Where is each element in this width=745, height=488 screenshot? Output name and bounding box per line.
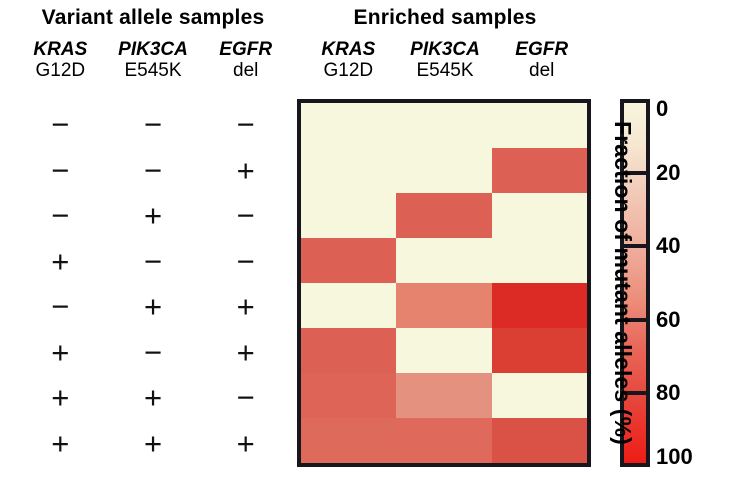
variant-matrix-cell: −: [107, 109, 200, 140]
colorbar-tick-label: 20: [656, 162, 680, 184]
variant-matrix-cell: +: [199, 291, 292, 322]
column-header-pik3ca: PIK3CA E545K: [107, 40, 200, 81]
variant-matrix-cell: −: [199, 246, 292, 277]
heatmap-cell: [301, 193, 396, 238]
heatmap-cell: [492, 373, 587, 418]
left-panel-title: Variant allele samples: [14, 6, 292, 30]
colorbar-axis-title: Fraction of mutant alleles (%): [606, 99, 640, 467]
heatmap-cell: [396, 283, 491, 328]
heatmap-cell: [396, 103, 491, 148]
heatmap-row: [301, 373, 587, 418]
heatmap-cell: [301, 238, 396, 283]
heatmap-cell: [492, 103, 587, 148]
variant-matrix-cell: +: [107, 428, 200, 459]
variant-allele-matrix: −−−−−+−+−+−−−+++−+++−+++: [14, 102, 292, 466]
heatmap-row: [301, 238, 587, 283]
heatmap-gene-name-kras: KRAS: [300, 40, 397, 61]
heatmap-row: [301, 283, 587, 328]
heatmap-cell: [396, 418, 491, 463]
column-header-egfr: EGFR del: [199, 40, 292, 81]
heatmap-cell: [301, 418, 396, 463]
variant-matrix-cell: +: [14, 337, 107, 368]
heatmap-gene-variant-egfr: del: [493, 61, 590, 82]
variant-matrix-cell: +: [14, 428, 107, 459]
gene-name-egfr: EGFR: [199, 40, 292, 61]
variant-matrix-row: −−+: [14, 148, 292, 194]
gene-name-pik3ca: PIK3CA: [107, 40, 200, 61]
variant-matrix-cell: −: [14, 155, 107, 186]
heatmap-column-header-egfr: EGFR del: [493, 40, 590, 81]
variant-matrix-row: −++: [14, 284, 292, 330]
heatmap-cell: [301, 148, 396, 193]
heatmap-cell: [492, 148, 587, 193]
heatmap-cell: [396, 373, 491, 418]
heatmap-gene-variant-pik3ca: E545K: [397, 61, 494, 82]
heatmap-gene-name-pik3ca: PIK3CA: [397, 40, 494, 61]
variant-matrix-row: −+−: [14, 193, 292, 239]
variant-matrix-row: ++−: [14, 375, 292, 421]
heatmap-row: [301, 103, 587, 148]
heatmap-gene-variant-kras: G12D: [300, 61, 397, 82]
enriched-samples-heatmap: [297, 99, 591, 467]
variant-matrix-row: +−+: [14, 330, 292, 376]
variant-allele-column-headers: KRAS G12D PIK3CA E545K EGFR del: [14, 40, 292, 81]
heatmap-cell: [492, 238, 587, 283]
variant-matrix-cell: +: [199, 337, 292, 368]
variant-matrix-cell: −: [199, 109, 292, 140]
variant-matrix-cell: −: [107, 246, 200, 277]
heatmap-row: [301, 328, 587, 373]
heatmap-gene-name-egfr: EGFR: [493, 40, 590, 61]
heatmap-cell: [301, 328, 396, 373]
variant-matrix-cell: +: [107, 291, 200, 322]
heatmap-cell: [396, 148, 491, 193]
variant-matrix-row: +−−: [14, 239, 292, 285]
column-header-kras: KRAS G12D: [14, 40, 107, 81]
gene-name-kras: KRAS: [14, 40, 107, 61]
heatmap-column-header-kras: KRAS G12D: [300, 40, 397, 81]
variant-matrix-row: +++: [14, 421, 292, 467]
heatmap-cell: [492, 283, 587, 328]
variant-matrix-cell: +: [14, 382, 107, 413]
variant-matrix-cell: +: [199, 155, 292, 186]
enriched-samples-column-headers: KRAS G12D PIK3CA E545K EGFR del: [300, 40, 590, 81]
variant-matrix-cell: +: [107, 200, 200, 231]
variant-matrix-cell: −: [14, 200, 107, 231]
gene-variant-egfr: del: [199, 61, 292, 82]
heatmap-column-header-pik3ca: PIK3CA E545K: [397, 40, 494, 81]
variant-matrix-row: −−−: [14, 102, 292, 148]
colorbar-tick-label: 60: [656, 309, 680, 331]
gene-variant-kras: G12D: [14, 61, 107, 82]
heatmap-row: [301, 148, 587, 193]
variant-matrix-cell: −: [107, 337, 200, 368]
colorbar-tick-label: 0: [656, 98, 668, 120]
variant-matrix-cell: −: [199, 382, 292, 413]
variant-matrix-cell: +: [107, 382, 200, 413]
heatmap-cell: [396, 193, 491, 238]
heatmap-cell: [492, 193, 587, 238]
right-panel-title: Enriched samples: [300, 6, 590, 30]
colorbar-tick-label: 40: [656, 235, 680, 257]
heatmap-row: [301, 418, 587, 463]
variant-matrix-cell: +: [199, 428, 292, 459]
variant-matrix-cell: −: [199, 200, 292, 231]
heatmap-cell: [301, 103, 396, 148]
heatmap-cell: [301, 373, 396, 418]
heatmap-cell: [396, 238, 491, 283]
colorbar-tick-label: 80: [656, 382, 680, 404]
heatmap-cell: [396, 328, 491, 373]
gene-variant-pik3ca: E545K: [107, 61, 200, 82]
heatmap-cell: [301, 283, 396, 328]
variant-matrix-cell: −: [107, 155, 200, 186]
colorbar-tick-label: 100: [656, 446, 693, 468]
heatmap-cell: [492, 418, 587, 463]
heatmap-cell: [492, 328, 587, 373]
variant-matrix-cell: +: [14, 246, 107, 277]
variant-matrix-cell: −: [14, 291, 107, 322]
heatmap-row: [301, 193, 587, 238]
variant-matrix-cell: −: [14, 109, 107, 140]
